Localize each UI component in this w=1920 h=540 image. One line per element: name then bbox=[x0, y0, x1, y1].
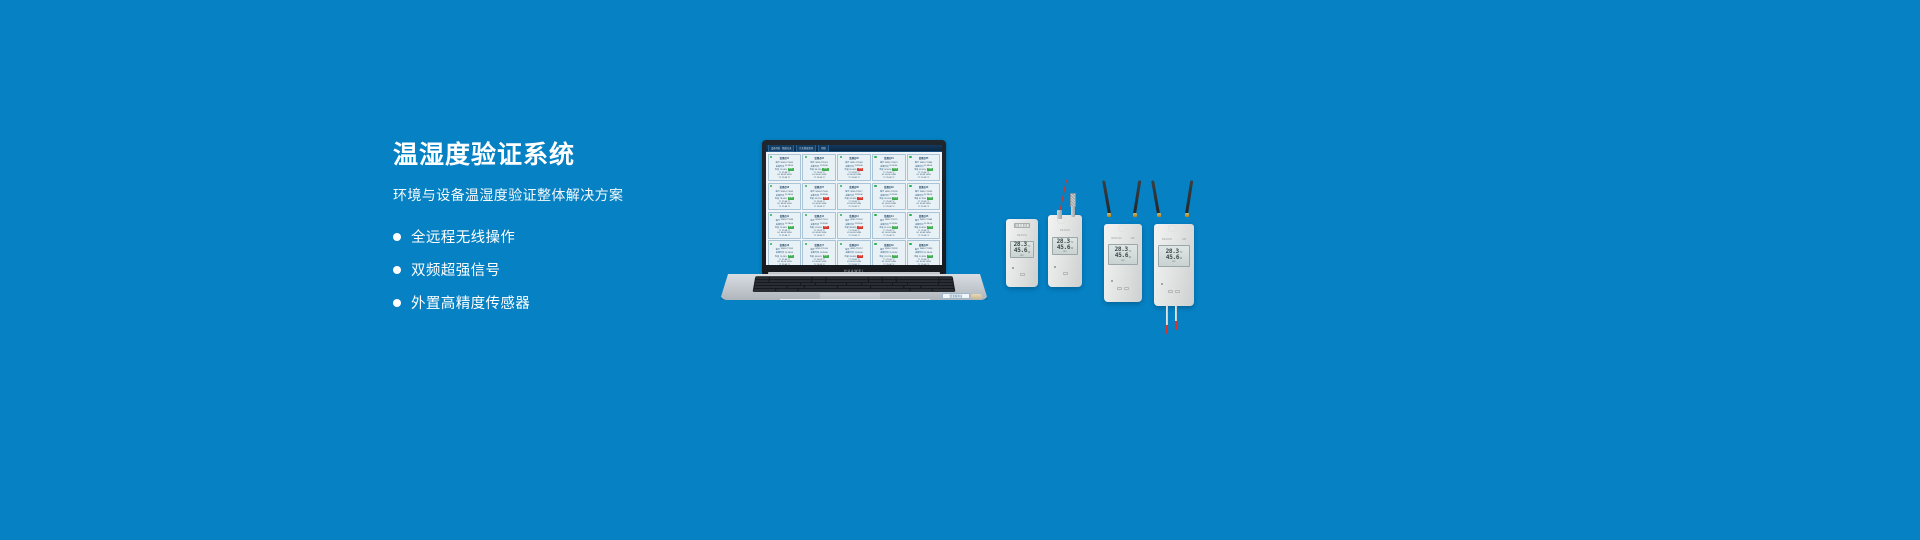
status-dot-icon bbox=[840, 243, 842, 245]
sensor-time-label: 采集时间 bbox=[776, 165, 784, 168]
sensor-card[interactable]: 监测点08编号WSD-771117采集时间11:28:06电量81.30%异常T… bbox=[837, 183, 871, 211]
sensor-battery-value: 81.30% bbox=[849, 198, 856, 200]
keyboard-key[interactable] bbox=[910, 289, 932, 291]
sensor-battery-value: 92.40% bbox=[884, 169, 891, 171]
hang-loop-icon bbox=[1118, 225, 1127, 232]
sensor-t2-label: T2 bbox=[848, 177, 850, 179]
sensor-t2-value: 25.08 ℃ bbox=[782, 264, 790, 265]
keyboard-key[interactable] bbox=[754, 289, 776, 291]
laptop-sticker-secondary bbox=[971, 294, 982, 299]
sensor-time-value: 11:28:06 bbox=[855, 252, 863, 254]
keyboard-key[interactable] bbox=[821, 289, 843, 291]
lcd-status-label: REC bbox=[1111, 260, 1136, 262]
sensor-battery-row: 电量55.30%正常 bbox=[909, 255, 938, 258]
sensor-time-value: 11:28:06 bbox=[924, 223, 932, 225]
status-dot-icon bbox=[805, 214, 807, 216]
sensor-card[interactable]: 监测点19编号WSD-771228采集时间11:28:06电量76.70%正常T… bbox=[872, 240, 906, 265]
sensor-time-row: 采集时间11:28:06 bbox=[839, 251, 868, 254]
sensor-time-label: 采集时间 bbox=[915, 223, 923, 226]
sensor-time-value: 11:28:06 bbox=[889, 223, 897, 225]
sensor-time-label: 采集时间 bbox=[811, 165, 819, 168]
sensor-t2-value: 25.08 ℃ bbox=[921, 235, 929, 237]
sensor-t2-row: T225.08 ℃ bbox=[839, 264, 868, 265]
sensor-code-value: WSD-771073 bbox=[885, 162, 897, 164]
device-small-logger: RENON 28.3 ℃ 45.6 % REC bbox=[1006, 219, 1038, 287]
external-probe-tip-icon bbox=[1175, 321, 1177, 330]
sensor-time-value: 11:28:06 bbox=[924, 252, 932, 254]
sensor-time-label: 采集时间 bbox=[776, 194, 784, 197]
lcd-humidity-row: 45.6 % bbox=[1012, 248, 1032, 254]
sensor-t2-label: T2 bbox=[814, 264, 816, 265]
lcd-status-label: REC bbox=[1012, 255, 1032, 257]
sensor-battery-row: 电量58.10%正常 bbox=[909, 168, 938, 171]
status-badge: 正常 bbox=[823, 255, 829, 258]
sensor-battery-label: 电量 bbox=[845, 168, 849, 171]
sensor-battery-label: 电量 bbox=[775, 226, 779, 229]
sensor-t2-value: 25.08 ℃ bbox=[886, 177, 894, 179]
toolbar-button-history[interactable]: 历史数据查询 bbox=[796, 145, 816, 152]
sensor-battery-row: 电量75.00%正常 bbox=[770, 168, 799, 171]
sensor-code-value: WSD-771106 bbox=[816, 191, 828, 193]
sensor-battery-label: 电量 bbox=[879, 255, 883, 258]
status-badge: 异常 bbox=[823, 197, 829, 200]
sensor-time-label: 采集时间 bbox=[915, 194, 923, 197]
status-badge: 异常 bbox=[857, 197, 863, 200]
device-model-label: HB bbox=[1182, 238, 1186, 241]
sensor-card-title: 监测点01 bbox=[780, 156, 789, 160]
status-dot-icon bbox=[909, 214, 911, 216]
sensor-code-label: 编号 bbox=[880, 219, 884, 222]
sensor-t2-row: T225.08 ℃ bbox=[909, 235, 938, 237]
sensor-code-row: 编号WSD-771162 bbox=[839, 219, 868, 222]
sensor-battery-label: 电量 bbox=[775, 255, 779, 258]
sensor-code-value: WSD-771162 bbox=[850, 219, 862, 221]
keyboard-row bbox=[754, 289, 955, 291]
sensor-code-value: WSD-771206 bbox=[815, 248, 827, 250]
device-key[interactable] bbox=[1168, 290, 1173, 293]
sensor-time-value: 11:28:06 bbox=[785, 223, 793, 225]
antenna-icon bbox=[1133, 180, 1142, 214]
laptop-keyboard[interactable] bbox=[753, 276, 956, 292]
sensor-code-value: WSD-771195 bbox=[781, 248, 793, 250]
sensor-code-value: WSD-771140 bbox=[781, 219, 793, 221]
sensor-battery-value: 58.10% bbox=[919, 169, 926, 171]
status-dot-icon bbox=[874, 243, 876, 245]
status-badge: 正常 bbox=[892, 226, 898, 229]
sensor-card[interactable]: 监测点11编号WSD-771140采集时间11:28:06电量73.60%正常T… bbox=[768, 212, 802, 240]
status-led-icon bbox=[1012, 267, 1014, 269]
sensor-battery-row: 电量44.20%异常 bbox=[805, 197, 834, 200]
sensor-code-row: 编号WSD-771095 bbox=[770, 190, 799, 193]
status-led-icon bbox=[1054, 266, 1056, 268]
sensor-battery-row: 电量78.00%正常 bbox=[770, 197, 799, 200]
hero-text-block: 温湿度验证系统 环境与设备温湿度验证整体解决方案 全远程无线操作 双频超强信号 … bbox=[393, 140, 723, 325]
sensor-battery-label: 电量 bbox=[775, 197, 779, 200]
list-item: 双频超强信号 bbox=[393, 259, 723, 280]
status-badge: 正常 bbox=[927, 255, 933, 258]
sensor-battery-label: 电量 bbox=[879, 226, 883, 229]
sensor-battery-label: 电量 bbox=[810, 197, 814, 200]
sensor-code-value: WSD-771151 bbox=[816, 219, 828, 221]
sensor-t2-row: T225.08 ℃ bbox=[874, 177, 903, 179]
sensor-time-row: 采集时间11:28:06 bbox=[874, 165, 903, 168]
external-probe-tip-icon bbox=[1166, 325, 1168, 334]
bullet-label: 双频超强信号 bbox=[411, 259, 500, 280]
sensor-time-value: 11:28:06 bbox=[785, 252, 793, 254]
sensor-t2-row: T225.08 ℃ bbox=[874, 264, 903, 265]
sensor-t2-row: T225.08 ℃ bbox=[770, 206, 799, 208]
sensor-battery-value: 86.11% bbox=[815, 169, 822, 171]
sensor-battery-label: 电量 bbox=[879, 168, 883, 171]
sensor-time-row: 采集时间11:28:06 bbox=[874, 223, 903, 226]
sensor-card-title: 监测点16 bbox=[780, 243, 789, 247]
sensor-card[interactable]: 监测点09编号WSD-771128采集时间11:28:06电量90.00%正常T… bbox=[872, 183, 906, 211]
lcd-status-label: REC bbox=[1054, 251, 1076, 253]
device-key[interactable] bbox=[1117, 287, 1122, 290]
sensor-battery-label: 电量 bbox=[879, 197, 883, 200]
sensor-time-label: 采集时间 bbox=[915, 251, 923, 254]
sensor-code-label: 编号 bbox=[810, 248, 814, 251]
sensor-battery-value: 88.80% bbox=[849, 227, 856, 229]
sensor-t2-value: 25.08 ℃ bbox=[921, 264, 929, 265]
laptop-front-edge bbox=[780, 299, 930, 303]
sensor-card[interactable]: 监测点16编号WSD-771195采集时间11:28:06电量70.20%正常T… bbox=[768, 240, 802, 265]
device-key[interactable] bbox=[1175, 290, 1180, 293]
sensor-card[interactable]: 监测点17编号WSD-771206采集时间11:28:06电量48.90%正常T… bbox=[802, 240, 836, 265]
sensor-t2-label: T2 bbox=[918, 177, 920, 179]
hang-loop-icon bbox=[1168, 225, 1177, 232]
lcd-humidity-value: 45.6 bbox=[1057, 245, 1070, 251]
sensor-battery-label: 电量 bbox=[810, 226, 814, 229]
sensor-battery-row: 电量61.10%正常 bbox=[874, 226, 903, 229]
lcd-display: 28.3 ℃ 45.6 % REC bbox=[1052, 237, 1079, 254]
sensor-code-row: 编号WSD-771073 bbox=[874, 161, 903, 164]
sensor-card-title: 监测点11 bbox=[780, 214, 789, 218]
sensor-battery-label: 电量 bbox=[810, 255, 814, 258]
probe-body-icon bbox=[1057, 210, 1062, 219]
sensor-time-value: 11:28:06 bbox=[855, 223, 863, 225]
sensor-code-label: 编号 bbox=[845, 219, 849, 222]
status-badge: 正常 bbox=[892, 197, 898, 200]
sensor-time-value: 11:28:06 bbox=[820, 223, 828, 225]
device-keypad[interactable] bbox=[1160, 290, 1189, 293]
sensor-battery-value: 67.50% bbox=[919, 198, 926, 200]
sensor-code-row: 编号WSD-771217 bbox=[839, 248, 868, 251]
sensor-battery-row: 电量90.00%正常 bbox=[874, 197, 903, 200]
sensor-t2-label: T2 bbox=[883, 235, 885, 237]
sensor-t2-row: T225.08 ℃ bbox=[805, 206, 834, 208]
sensor-battery-label: 电量 bbox=[845, 226, 849, 229]
sensor-battery-row: 电量94.00%正常 bbox=[909, 226, 938, 229]
sensor-t2-label: T2 bbox=[848, 206, 850, 208]
sensor-battery-label: 电量 bbox=[845, 197, 849, 200]
sensor-time-row: 采集时间11:28:06 bbox=[805, 251, 834, 254]
lcd-humidity-row: 45.6 % bbox=[1054, 245, 1076, 251]
sensor-t2-label: T2 bbox=[779, 264, 781, 265]
toolbar-button-help[interactable]: 帮助 bbox=[818, 145, 829, 152]
sensor-code-row: 编号WSD-771128 bbox=[874, 190, 903, 193]
status-badge: 正常 bbox=[927, 226, 933, 229]
sensor-t2-label: T2 bbox=[918, 206, 920, 208]
device-key[interactable] bbox=[1020, 273, 1025, 276]
sensor-battery-value: 61.10% bbox=[884, 227, 891, 229]
probe-wire-icon bbox=[1059, 180, 1067, 214]
sensor-time-row: 采集时间11:28:06 bbox=[805, 194, 834, 197]
sensor-time-value: 11:28:06 bbox=[855, 165, 863, 167]
sensor-battery-value: 70.20% bbox=[780, 256, 787, 258]
status-dot-icon bbox=[770, 214, 772, 216]
sensor-battery-value: 75.00% bbox=[780, 169, 787, 171]
sensor-code-row: 编号WSD-771062 bbox=[839, 161, 868, 164]
status-badge: 正常 bbox=[822, 168, 828, 171]
sensor-time-label: 采集时间 bbox=[811, 194, 819, 197]
sensor-t2-label: T2 bbox=[779, 177, 781, 179]
sensor-time-label: 采集时间 bbox=[880, 194, 888, 197]
sensor-time-row: 采集时间11:28:06 bbox=[839, 223, 868, 226]
sensor-t2-label: T2 bbox=[814, 235, 816, 237]
laptop-product-image: 设备列表 · 数据记录 历史数据查询 帮助 监测点01编号WSD-771045采… bbox=[720, 140, 988, 300]
sensor-code-label: 编号 bbox=[915, 190, 919, 193]
sensor-t2-row: T225.08 ℃ bbox=[909, 206, 938, 208]
sensor-battery-label: 电量 bbox=[775, 168, 779, 171]
sensor-t2-label: T2 bbox=[883, 177, 885, 179]
sensor-time-row: 采集时间11:28:06 bbox=[770, 194, 799, 197]
device-key[interactable] bbox=[1124, 287, 1129, 290]
keyboard-key[interactable] bbox=[888, 289, 910, 291]
bullet-dot-icon bbox=[393, 299, 401, 307]
sensor-t2-label: T2 bbox=[779, 235, 781, 237]
sensor-battery-label: 电量 bbox=[914, 226, 918, 229]
sensor-code-label: 编号 bbox=[845, 248, 849, 251]
sensor-time-label: 采集时间 bbox=[811, 251, 819, 254]
sensor-t2-value: 25.08 ℃ bbox=[886, 206, 894, 208]
device-dual-band-transmitter: RENON HB 28.3 ℃ 45.6 % REC bbox=[1104, 224, 1142, 302]
sensor-card[interactable]: 监测点06编号WSD-771095采集时间11:28:06电量78.00%正常T… bbox=[768, 183, 802, 211]
sensor-card[interactable]: 监测点02编号WSD-771051采集时间11:28:06电量86.11%正常T… bbox=[802, 154, 836, 182]
sensor-code-value: WSD-771239 bbox=[920, 248, 932, 250]
sensor-code-row: 编号WSD-771239 bbox=[909, 248, 938, 251]
sensor-time-row: 采集时间11:28:06 bbox=[770, 251, 799, 254]
device-brand-row: RENON bbox=[1048, 229, 1082, 232]
sensor-code-row: 编号WSD-771140 bbox=[770, 219, 799, 222]
device-key[interactable] bbox=[1063, 272, 1068, 275]
sensor-card[interactable]: 监测点07编号WSD-771106采集时间11:28:06电量44.20%异常T… bbox=[802, 183, 836, 211]
sensor-code-label: 编号 bbox=[776, 219, 780, 222]
sensor-card[interactable]: 监测点18编号WSD-771217采集时间11:28:06电量83.40%异常T… bbox=[837, 240, 871, 265]
antenna-icon bbox=[1151, 180, 1160, 214]
sensor-t2-value: 25.08 ℃ bbox=[852, 206, 860, 208]
sensor-card-title: 监测点06 bbox=[780, 185, 789, 189]
antenna-base-icon bbox=[1107, 213, 1111, 217]
device-brand-label: RENON bbox=[1111, 237, 1121, 240]
list-item: 全远程无线操作 bbox=[393, 226, 723, 247]
sensor-battery-row: 电量52.00%异常 bbox=[805, 226, 834, 229]
sensor-battery-value: 83.40% bbox=[849, 256, 856, 258]
status-badge: 正常 bbox=[788, 226, 794, 229]
sensor-t2-value: 25.08 ℃ bbox=[852, 177, 860, 179]
sensor-t2-value: 25.08 ℃ bbox=[817, 264, 825, 265]
status-led-icon bbox=[1161, 283, 1163, 285]
sensor-t2-value: 25.08 ℃ bbox=[852, 235, 860, 237]
sensor-battery-row: 电量88.80%异常 bbox=[839, 226, 868, 229]
lcd-humidity-unit: % bbox=[1028, 251, 1030, 254]
sensor-time-label: 采集时间 bbox=[880, 165, 888, 168]
device-brand-label: RENON bbox=[1017, 234, 1027, 237]
device-keypad[interactable] bbox=[1109, 287, 1136, 290]
sensor-card[interactable]: 监测点15编号WSD-771184采集时间11:28:06电量94.00%正常T… bbox=[907, 212, 941, 240]
sensor-code-row: 编号WSD-771051 bbox=[805, 161, 834, 164]
sensor-card[interactable]: 监测点13编号WSD-771162采集时间11:28:06电量88.80%异常T… bbox=[837, 212, 871, 240]
sensor-code-label: 编号 bbox=[880, 161, 884, 164]
sensor-battery-value: 48.90% bbox=[815, 256, 822, 258]
sensor-t2-label: T2 bbox=[779, 206, 781, 208]
sensor-t2-value: 25.08 ℃ bbox=[852, 264, 860, 265]
sensor-code-value: WSD-771228 bbox=[885, 248, 897, 250]
status-dot-icon bbox=[770, 185, 772, 187]
sensor-code-row: 编号WSD-771117 bbox=[839, 190, 868, 193]
sensor-battery-value: 44.20% bbox=[815, 198, 822, 200]
sensor-battery-value: 90.00% bbox=[884, 198, 891, 200]
bullet-label: 全远程无线操作 bbox=[411, 226, 515, 247]
antenna-icon bbox=[1185, 180, 1194, 214]
sensor-t2-value: 25.08 ℃ bbox=[782, 235, 790, 237]
status-dot-icon bbox=[805, 185, 807, 187]
lcd-humidity-value: 45.6 bbox=[1115, 253, 1128, 259]
antenna-base-icon bbox=[1157, 213, 1161, 217]
sensor-code-label: 编号 bbox=[880, 248, 884, 251]
device-dual-band-transmitter-external-probe: RENON HB 28.3 ℃ 45.6 % REC bbox=[1154, 224, 1194, 306]
sensor-code-label: 编号 bbox=[880, 190, 884, 193]
page-title: 温湿度验证系统 bbox=[393, 140, 723, 170]
sensor-code-value: WSD-771139 bbox=[920, 191, 932, 193]
sensor-time-value: 11:28:06 bbox=[820, 252, 828, 254]
device-keypad[interactable] bbox=[1053, 272, 1078, 275]
laptop-sticker: 温湿度验证 bbox=[942, 293, 970, 299]
sensor-card[interactable]: 监测点12编号WSD-771151采集时间11:28:06电量52.00%异常T… bbox=[802, 212, 836, 240]
bullet-label: 外置高精度传感器 bbox=[411, 292, 530, 313]
sensor-code-label: 编号 bbox=[915, 248, 919, 251]
device-brand-row: RENON HB bbox=[1104, 237, 1142, 240]
sensor-time-row: 采集时间11:28:06 bbox=[874, 251, 903, 254]
sensor-battery-value: 55.30% bbox=[919, 256, 926, 258]
sensor-battery-value: 73.60% bbox=[780, 227, 787, 229]
sensor-code-label: 编号 bbox=[915, 161, 919, 164]
sensor-t2-label: T2 bbox=[848, 264, 850, 265]
status-dot-icon bbox=[770, 156, 772, 158]
sensor-t2-value: 25.08 ℃ bbox=[817, 177, 825, 179]
sensor-card[interactable]: 监测点04编号WSD-771073采集时间11:28:06电量92.40%正常T… bbox=[872, 154, 906, 182]
sensor-time-row: 采集时间11:28:06 bbox=[909, 223, 938, 226]
keyboard-key[interactable] bbox=[932, 289, 954, 291]
sensor-time-row: 采集时间11:28:06 bbox=[805, 223, 834, 226]
antenna-base-icon bbox=[1185, 213, 1189, 217]
lcd-humidity-unit: % bbox=[1071, 247, 1073, 250]
sensor-card-title: 监测点19 bbox=[884, 243, 893, 247]
sensor-t2-row: T225.08 ℃ bbox=[770, 264, 799, 265]
sensor-card[interactable]: 监测点05编号WSD-771084采集时间11:28:06电量58.10%正常T… bbox=[907, 154, 941, 182]
keyboard-key[interactable] bbox=[865, 289, 887, 291]
sensor-code-row: 编号WSD-771184 bbox=[909, 219, 938, 222]
sensor-code-label: 编号 bbox=[845, 161, 849, 164]
status-dot-icon bbox=[805, 156, 807, 158]
sensor-code-value: WSD-771045 bbox=[781, 162, 793, 164]
sensor-battery-row: 电量86.11%正常 bbox=[805, 168, 834, 171]
status-badge: 正常 bbox=[788, 255, 794, 258]
sensor-code-label: 编号 bbox=[915, 219, 919, 222]
lcd-humidity-value: 45.6 bbox=[1166, 255, 1179, 261]
sensor-card[interactable]: 监测点10编号WSD-771139采集时间11:28:06电量67.50%正常T… bbox=[907, 183, 941, 211]
keyboard-key[interactable] bbox=[798, 289, 820, 291]
device-brand-label: RENON bbox=[1060, 229, 1070, 232]
sensor-battery-row: 电量92.40%正常 bbox=[874, 168, 903, 171]
sensor-card-title: 监测点20 bbox=[919, 243, 928, 247]
dashboard-toolbar: 设备列表 · 数据记录 历史数据查询 帮助 bbox=[766, 145, 942, 152]
sensor-card[interactable]: 监测点20编号WSD-771239采集时间11:28:06电量55.30%正常T… bbox=[907, 240, 941, 265]
sensor-code-label: 编号 bbox=[776, 190, 780, 193]
status-badge: 异常 bbox=[857, 255, 863, 258]
sensor-battery-row: 电量65.00%异常 bbox=[839, 168, 868, 171]
sensor-time-value: 11:28:06 bbox=[924, 194, 932, 196]
sensor-card[interactable]: 监测点01编号WSD-771045采集时间11:28:06电量75.00%正常T… bbox=[768, 154, 802, 182]
sensor-card[interactable]: 监测点14编号WSD-771173采集时间11:28:06电量61.10%正常T… bbox=[872, 212, 906, 240]
laptop-screen: 设备列表 · 数据记录 历史数据查询 帮助 监测点01编号WSD-771045采… bbox=[766, 145, 942, 265]
sensor-code-label: 编号 bbox=[811, 190, 815, 193]
sensor-card-title: 监测点09 bbox=[884, 185, 893, 189]
sensor-code-label: 编号 bbox=[776, 161, 780, 164]
sensor-card-title: 监测点02 bbox=[814, 156, 823, 160]
device-keypad[interactable] bbox=[1010, 273, 1033, 276]
sensor-card-title: 监测点18 bbox=[849, 243, 858, 247]
sensor-time-value: 11:28:06 bbox=[820, 194, 828, 196]
sensor-battery-value: 78.00% bbox=[780, 198, 787, 200]
monitoring-dashboard: 设备列表 · 数据记录 历史数据查询 帮助 监测点01编号WSD-771045采… bbox=[766, 145, 942, 265]
sensor-time-label: 采集时间 bbox=[845, 223, 853, 226]
sensor-card[interactable]: 监测点03编号WSD-771062采集时间11:28:06电量65.00%异常T… bbox=[837, 154, 871, 182]
keyboard-key[interactable] bbox=[843, 289, 865, 291]
sensor-t2-label: T2 bbox=[918, 264, 920, 265]
status-badge: 异常 bbox=[823, 226, 829, 229]
sensor-battery-label: 电量 bbox=[914, 197, 918, 200]
sensor-t2-row: T225.08 ℃ bbox=[839, 177, 868, 179]
device-brand-row: RENON bbox=[1006, 234, 1038, 237]
sensor-code-value: WSD-771084 bbox=[920, 162, 932, 164]
sensor-card-title: 监测点12 bbox=[814, 214, 823, 218]
sensor-t2-value: 25.08 ℃ bbox=[886, 235, 894, 237]
sensor-code-row: 编号WSD-771084 bbox=[909, 161, 938, 164]
sensor-t2-value: 25.08 ℃ bbox=[921, 177, 929, 179]
status-badge: 正常 bbox=[788, 168, 794, 171]
sensor-t2-row: T225.08 ℃ bbox=[839, 235, 868, 237]
handheld-devices-group: RENON 28.3 ℃ 45.6 % REC RENON 28.3 ℃ bbox=[1000, 185, 1230, 325]
sensor-battery-label: 电量 bbox=[845, 255, 849, 258]
sensor-code-row: 编号WSD-771228 bbox=[874, 248, 903, 251]
sensor-battery-value: 94.00% bbox=[919, 227, 926, 229]
status-dot-icon bbox=[909, 185, 911, 187]
sensor-t2-value: 25.08 ℃ bbox=[782, 177, 790, 179]
device-probe-logger: RENON 28.3 ℃ 45.6 % REC bbox=[1048, 215, 1082, 287]
sensor-code-row: 编号WSD-771195 bbox=[770, 248, 799, 251]
toolbar-button-device-list[interactable]: 设备列表 · 数据记录 bbox=[768, 145, 794, 152]
lcd-humidity-unit: % bbox=[1129, 256, 1131, 259]
sensor-time-value: 11:28:06 bbox=[889, 165, 897, 167]
status-badge: 正常 bbox=[788, 197, 794, 200]
keyboard-key[interactable] bbox=[776, 289, 798, 291]
sensor-time-label: 采集时间 bbox=[880, 251, 888, 254]
sensor-code-row: 编号WSD-771139 bbox=[909, 190, 938, 193]
status-badge: 异常 bbox=[857, 168, 863, 171]
sensor-code-value: WSD-771128 bbox=[885, 191, 897, 193]
sensor-code-value: WSD-771062 bbox=[850, 162, 862, 164]
